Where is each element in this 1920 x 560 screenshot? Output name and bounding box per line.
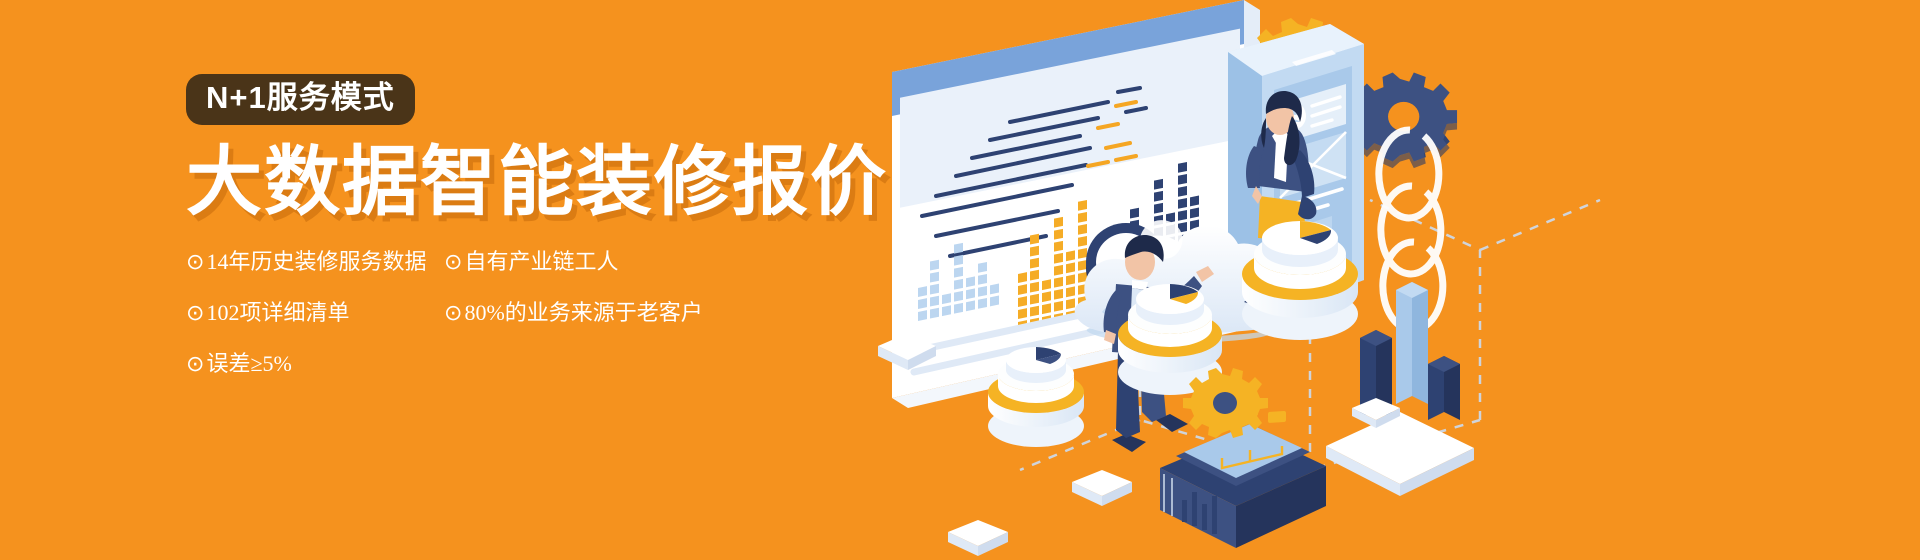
bullet-marker-icon: ⊙	[444, 250, 462, 273]
feature-bullet-list: ⊙14年历史装修服务数据 ⊙自有产业链工人 ⊙102项详细清单 ⊙80%的业务来…	[186, 250, 706, 403]
bullet-marker-icon: ⊙	[186, 301, 204, 324]
list-item-label: 自有产业链工人	[464, 249, 618, 274]
list-item-label: 14年历史装修服务数据	[206, 249, 426, 274]
bullet-marker-icon: ⊙	[186, 250, 204, 273]
list-item: ⊙自有产业链工人	[444, 250, 702, 273]
service-mode-badge: N+1服务模式	[186, 74, 415, 125]
list-item: ⊙误差≥5%	[186, 352, 444, 375]
bullet-marker-icon: ⊙	[186, 352, 204, 375]
text-block: N+1服务模式 大数据智能装修报价 ⊙14年历史装修服务数据 ⊙自有产业链工人 …	[186, 74, 946, 403]
list-item-label: 102项详细清单	[206, 300, 349, 325]
list-item: ⊙14年历史装修服务数据	[186, 250, 444, 273]
list-item-label: 80%的业务来源于老客户	[464, 300, 702, 325]
bullet-marker-icon: ⊙	[444, 301, 462, 324]
gear-yellow-small	[1183, 368, 1268, 438]
promo-banner: N+1服务模式 大数据智能装修报价 ⊙14年历史装修服务数据 ⊙自有产业链工人 …	[0, 0, 1920, 560]
list-item-label: 误差≥5%	[206, 351, 291, 376]
gear-navy	[1350, 72, 1457, 168]
hero-illustration	[840, 0, 1920, 560]
list-item: ⊙102项详细清单	[186, 301, 444, 324]
list-item: ⊙80%的业务来源于老客户	[444, 301, 702, 324]
page-title: 大数据智能装修报价	[186, 143, 946, 222]
